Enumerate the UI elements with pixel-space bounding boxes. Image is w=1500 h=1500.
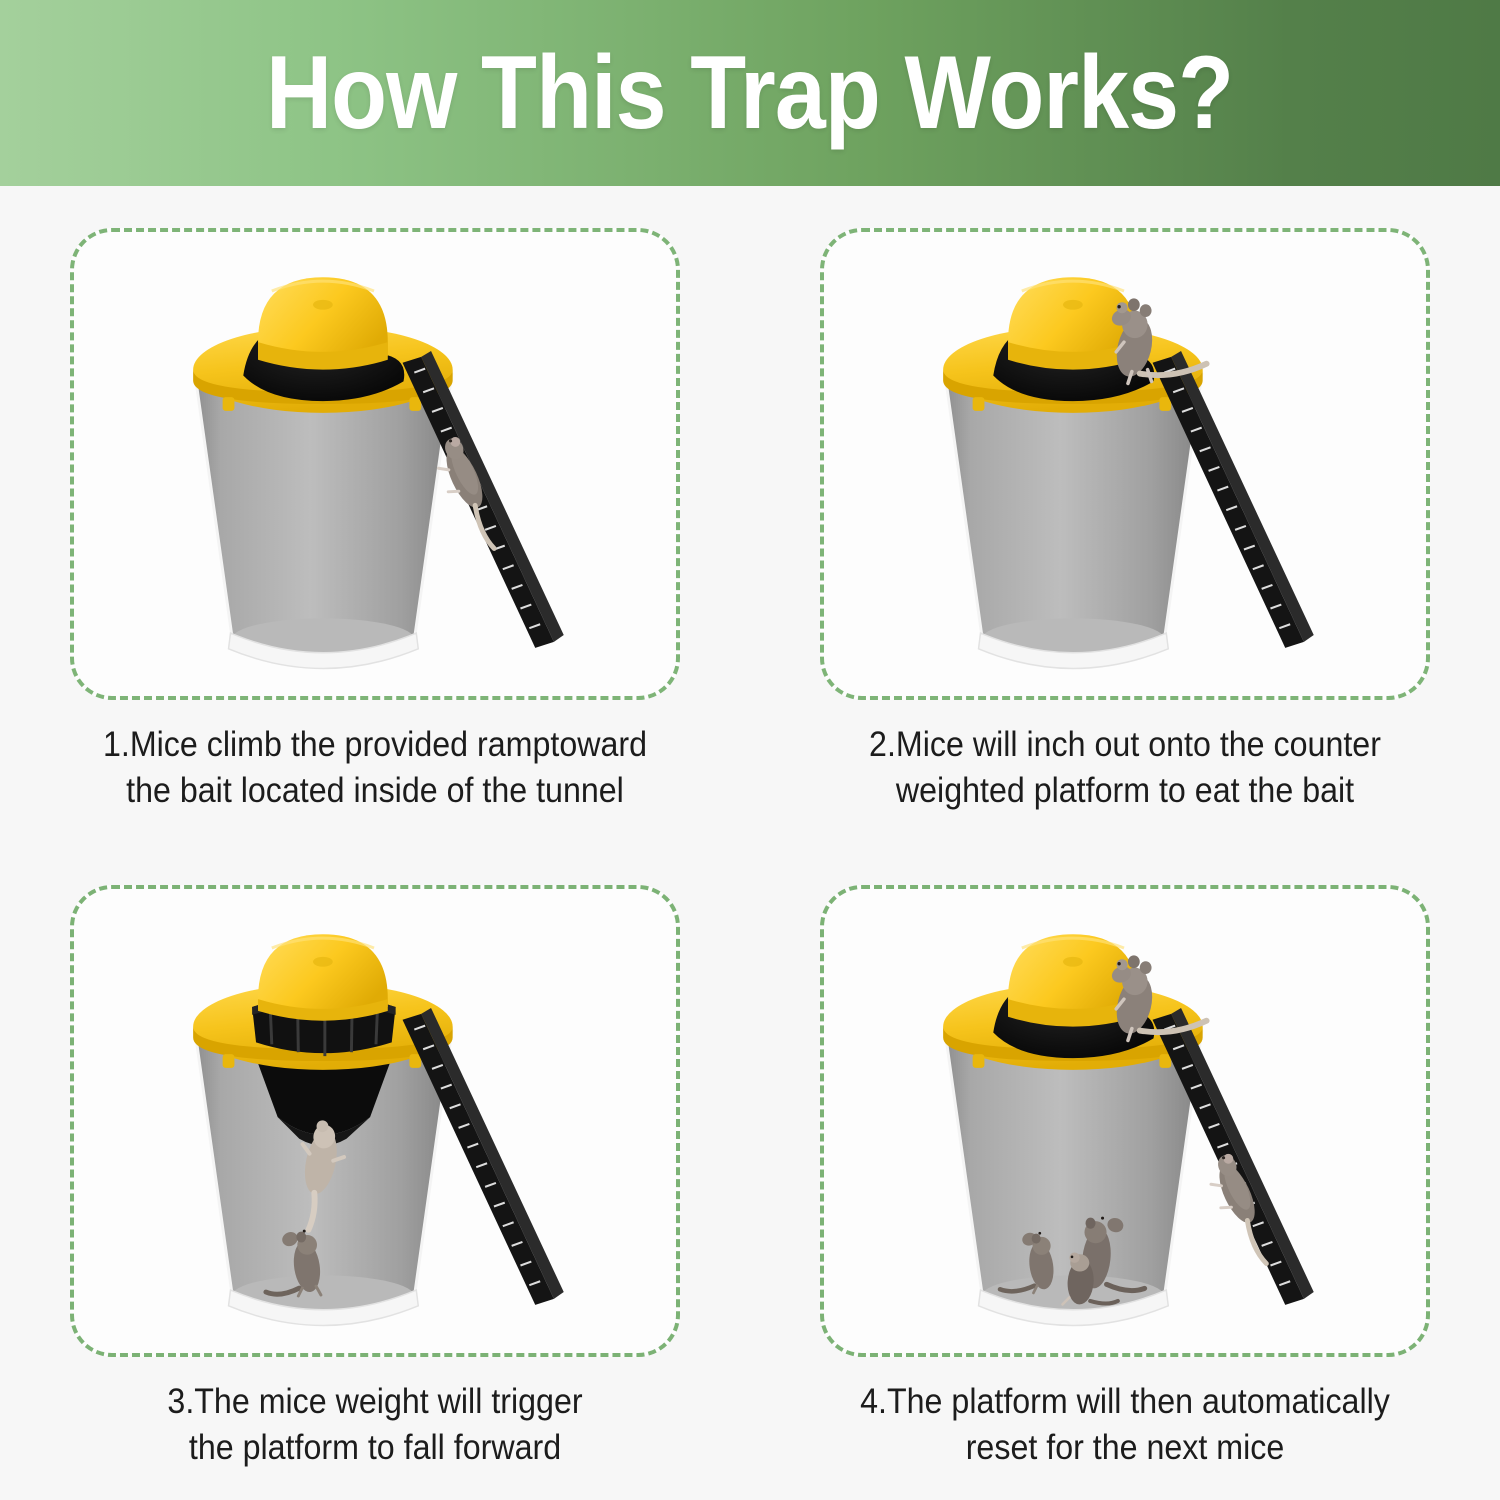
- step-panel-1: 1.Mice climb the provided ramptoward the…: [0, 186, 750, 843]
- infographic-page: How This Trap Works?: [0, 0, 1500, 1500]
- step-caption-3: 3.The mice weight will trigger the platf…: [81, 1379, 670, 1470]
- step-caption-1: 1.Mice climb the provided ramptoward the…: [81, 722, 670, 813]
- header-banner: How This Trap Works?: [0, 0, 1500, 186]
- step-panel-3: 3.The mice weight will trigger the platf…: [0, 843, 750, 1500]
- illustration-frame-2: [820, 228, 1430, 700]
- step-caption-2: 2.Mice will inch out onto the counter we…: [831, 722, 1420, 813]
- page-title: How This Trap Works?: [266, 41, 1233, 145]
- trap-illustration-1: [74, 232, 676, 696]
- trap-illustration-4: [824, 889, 1426, 1353]
- steps-grid: 1.Mice climb the provided ramptoward the…: [0, 186, 1500, 1500]
- illustration-frame-4: [820, 885, 1430, 1357]
- step-panel-4: 4.The platform will then automatically r…: [750, 843, 1500, 1500]
- illustration-frame-3: [70, 885, 680, 1357]
- step-panel-2: 2.Mice will inch out onto the counter we…: [750, 186, 1500, 843]
- trap-illustration-2: [824, 232, 1426, 696]
- step-caption-4: 4.The platform will then automatically r…: [831, 1379, 1420, 1470]
- trap-illustration-3: [74, 889, 676, 1353]
- illustration-frame-1: [70, 228, 680, 700]
